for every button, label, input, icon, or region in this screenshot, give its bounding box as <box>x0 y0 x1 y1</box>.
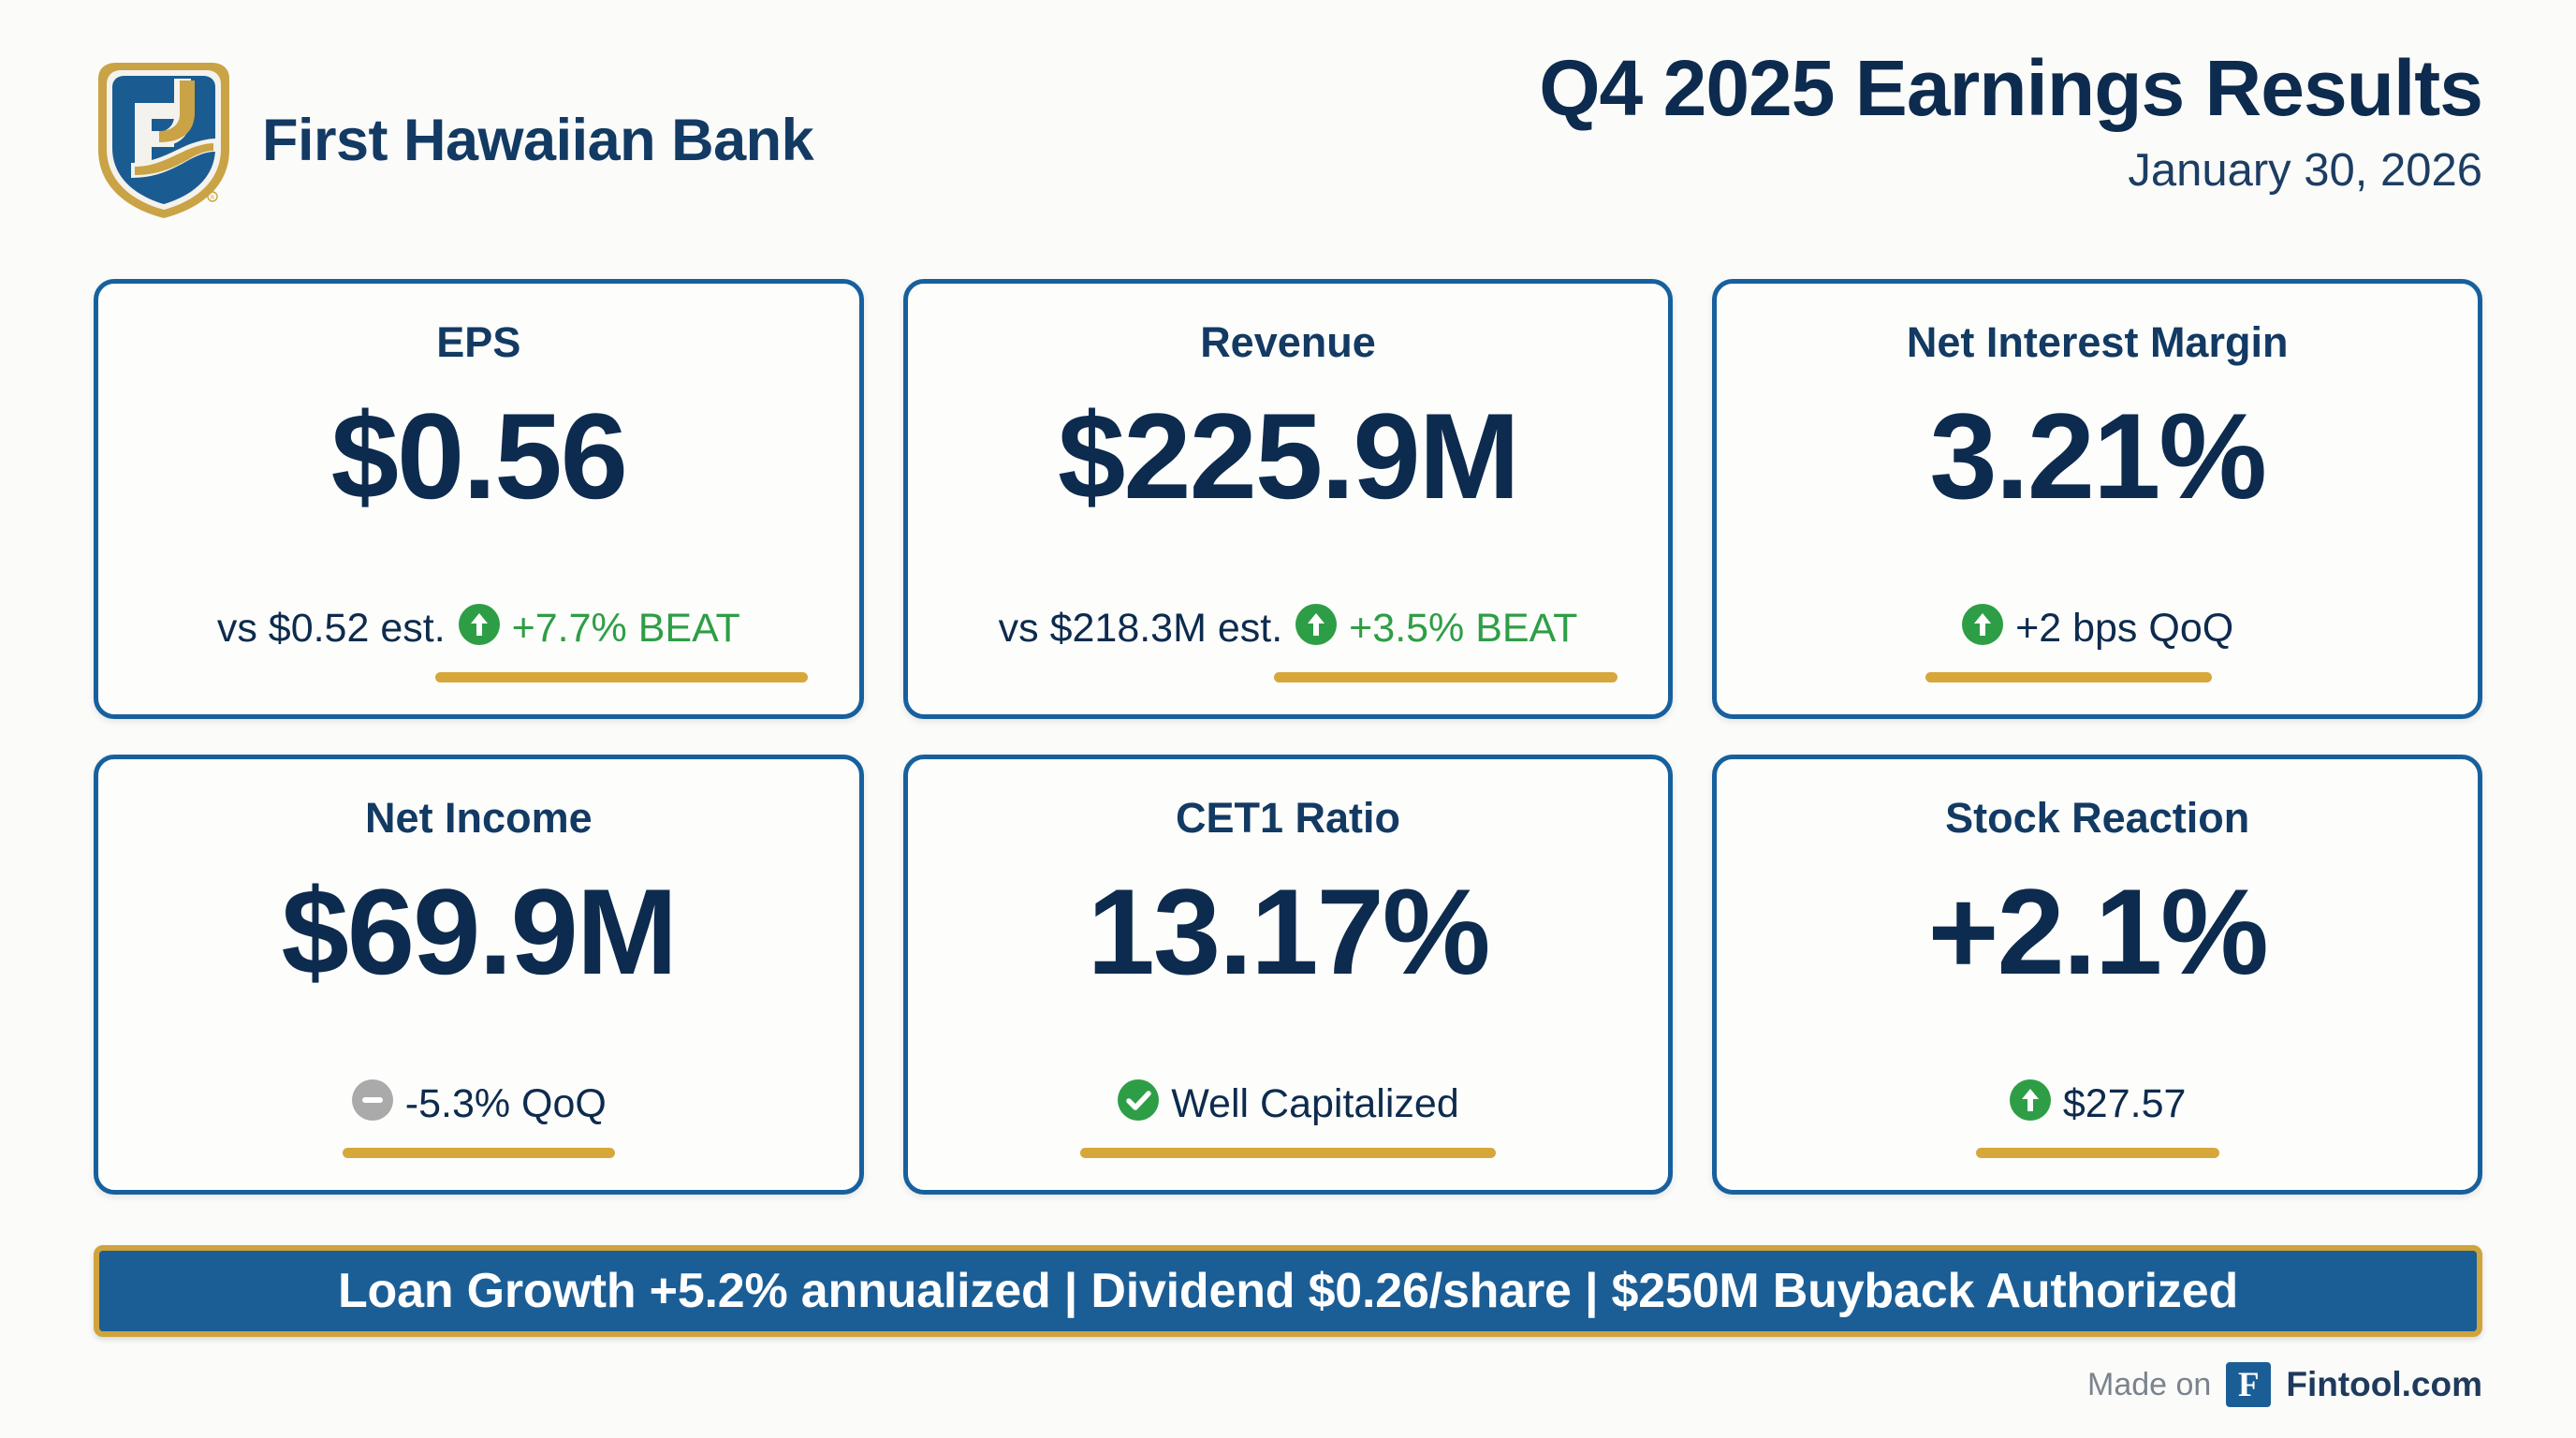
metric-value: 13.17% <box>1088 871 1489 992</box>
badge-label: Well Capitalized <box>1171 1084 1459 1124</box>
accent-underline <box>1976 1148 2219 1158</box>
metric-footer: vs $0.52 est. +7.7% BEAT <box>121 603 837 682</box>
metric-footer: vs $218.3M est. +3.5% BEAT <box>930 603 1647 682</box>
minus-circle-icon <box>351 1078 394 1129</box>
accent-underline <box>1925 672 2212 682</box>
metric-card-revenue: Revenue $225.9M vs $218.3M est. +3.5% BE… <box>903 279 1674 719</box>
badge-label: -5.3% QoQ <box>405 1084 607 1124</box>
svg-text:R: R <box>211 195 214 201</box>
earnings-infographic: R First Hawaiian Bank Q4 2025 Earnings R… <box>0 0 2576 1438</box>
arrow-up-circle-icon <box>1295 603 1338 653</box>
metric-label: EPS <box>436 321 520 363</box>
metric-footer: -5.3% QoQ <box>121 1078 837 1158</box>
check-circle-icon <box>1117 1078 1160 1129</box>
metric-card-eps: EPS $0.56 vs $0.52 est. +7.7% BEAT <box>94 279 864 719</box>
status-badge: +2 bps QoQ <box>1961 603 2233 653</box>
metric-card-net-income: Net Income $69.9M -5.3% QoQ <box>94 755 864 1195</box>
status-badge: +3.5% BEAT <box>1295 603 1577 653</box>
metric-subtext: $27.57 <box>2009 1078 2187 1129</box>
metric-subtext: Well Capitalized <box>1117 1078 1459 1129</box>
metric-estimate: vs $218.3M est. <box>999 609 1283 649</box>
brand-block: R First Hawaiian Bank <box>94 37 813 222</box>
metric-value: $0.56 <box>331 395 626 517</box>
banner-text: Loan Growth +5.2% annualized | Dividend … <box>338 1263 2238 1319</box>
first-hawaiian-shield-logo-icon: R <box>94 58 234 222</box>
brand-name: First Hawaiian Bank <box>262 107 813 174</box>
status-badge: -5.3% QoQ <box>351 1078 607 1129</box>
status-badge: +7.7% BEAT <box>458 603 740 653</box>
accent-underline <box>343 1148 615 1158</box>
highlights-banner: Loan Growth +5.2% annualized | Dividend … <box>94 1245 2482 1337</box>
status-badge: Well Capitalized <box>1117 1078 1459 1129</box>
metric-subtext: -5.3% QoQ <box>351 1078 607 1129</box>
metric-label: CET1 Ratio <box>1176 797 1400 839</box>
arrow-up-circle-icon <box>458 603 501 653</box>
metric-label: Net Income <box>365 797 593 839</box>
accent-underline <box>435 672 808 682</box>
arrow-up-circle-icon <box>1961 603 2004 653</box>
status-badge: $27.57 <box>2009 1078 2187 1129</box>
fintool-logo-icon: F <box>2226 1362 2271 1407</box>
accent-underline <box>1080 1148 1496 1158</box>
metric-value: +2.1% <box>1928 871 2267 992</box>
report-date: January 30, 2026 <box>1539 144 2482 197</box>
fintool-site-name: Fintool.com <box>2286 1365 2482 1404</box>
made-on-label: Made on <box>2087 1367 2211 1403</box>
metric-subtext: vs $218.3M est. +3.5% BEAT <box>999 603 1578 653</box>
metric-footer: $27.57 <box>1739 1078 2455 1158</box>
footer-attribution: Made on F Fintool.com <box>2087 1362 2482 1407</box>
metric-footer: Well Capitalized <box>930 1078 1647 1158</box>
metric-label: Stock Reaction <box>1945 797 2249 839</box>
page-title: Q4 2025 Earnings Results <box>1539 47 2482 129</box>
accent-underline <box>1274 672 1617 682</box>
title-block: Q4 2025 Earnings Results January 30, 202… <box>1539 37 2482 197</box>
header: R First Hawaiian Bank Q4 2025 Earnings R… <box>94 37 2482 225</box>
metric-footer: +2 bps QoQ <box>1739 603 2455 682</box>
metric-value: 3.21% <box>1929 395 2265 517</box>
metric-card-net-interest-margin: Net Interest Margin 3.21% +2 bps QoQ <box>1712 279 2482 719</box>
badge-label: +7.7% BEAT <box>512 609 740 649</box>
metric-subtext: +2 bps QoQ <box>1961 603 2233 653</box>
metric-subtext: vs $0.52 est. +7.7% BEAT <box>217 603 740 653</box>
metric-value: $225.9M <box>1058 395 1518 517</box>
metric-card-stock-reaction: Stock Reaction +2.1% $27.57 <box>1712 755 2482 1195</box>
metric-estimate: vs $0.52 est. <box>217 609 446 649</box>
badge-label: +3.5% BEAT <box>1349 609 1577 649</box>
metrics-grid: EPS $0.56 vs $0.52 est. +7.7% BEAT Reven… <box>94 279 2482 1195</box>
metric-value: $69.9M <box>282 871 677 992</box>
badge-label: $27.57 <box>2063 1084 2187 1124</box>
metric-label: Net Interest Margin <box>1907 321 2289 363</box>
arrow-up-circle-icon <box>2009 1078 2052 1129</box>
badge-label: +2 bps QoQ <box>2015 609 2233 649</box>
metric-card-cet1-ratio: CET1 Ratio 13.17% Well Capitalized <box>903 755 1674 1195</box>
metric-label: Revenue <box>1200 321 1376 363</box>
